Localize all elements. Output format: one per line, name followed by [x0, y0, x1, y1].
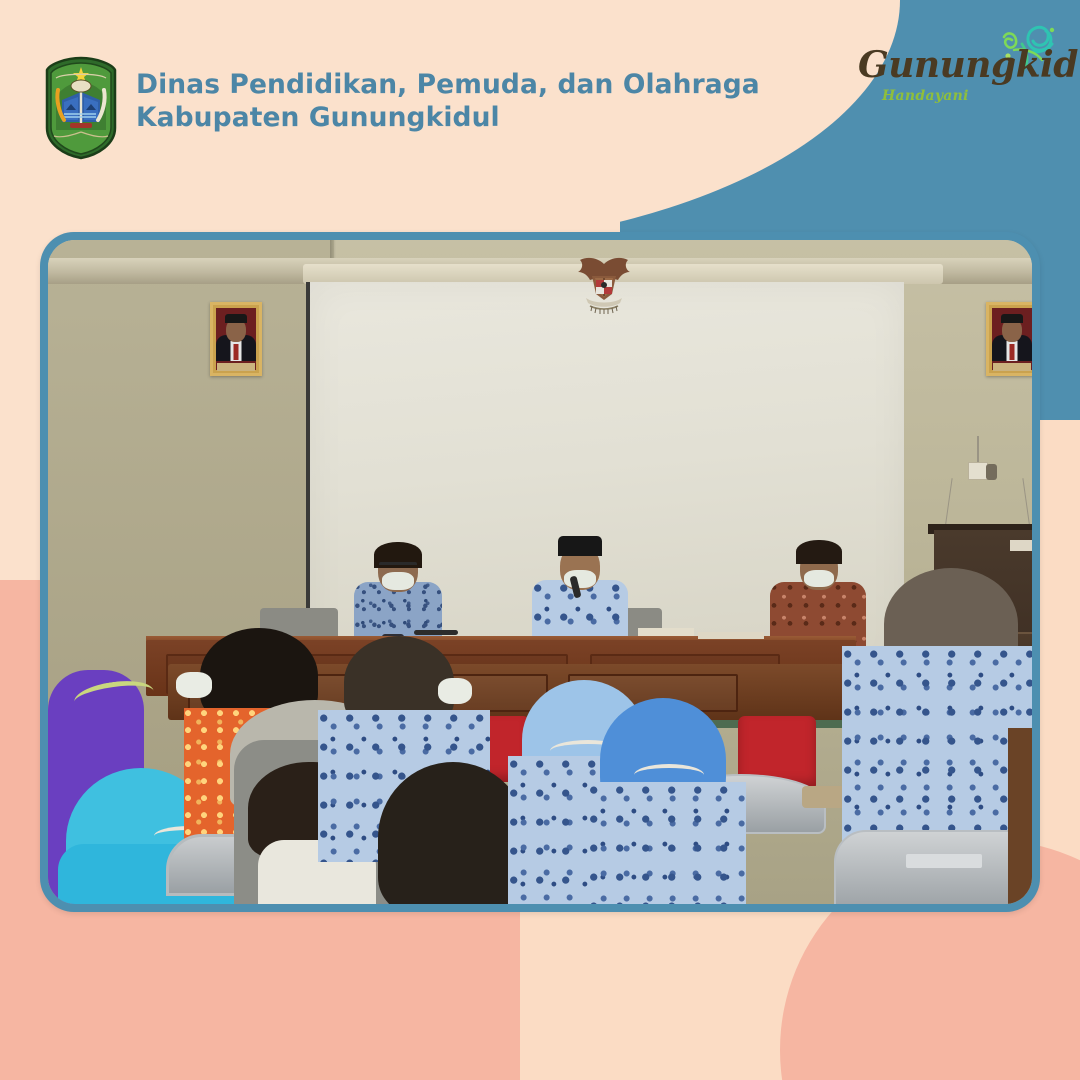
- audience-korpri-body-right: [842, 646, 1032, 860]
- papers-right: [698, 632, 764, 639]
- mask-korpri-left: [438, 678, 472, 704]
- brand-wordmark: Gunungkidul: [858, 44, 1038, 86]
- wakil-presiden-portrait: [986, 302, 1032, 376]
- gunungkidul-crest-icon: [42, 56, 120, 160]
- poster-canvas: Dinas Pendidikan, Pemuda, dan Olahraga K…: [0, 0, 1080, 1080]
- audience-korpri-body-hijab2: [588, 782, 746, 904]
- mask-strap-hijab2: [634, 764, 704, 786]
- speaker-center: [528, 536, 632, 652]
- meeting-photograph: [48, 240, 1032, 904]
- microphone-stand: [414, 630, 458, 635]
- wall-plug: [986, 464, 997, 480]
- title-line-1: Dinas Pendidikan, Pemuda, dan Olahraga: [136, 68, 760, 101]
- gunungkidul-brand-logo: Gunungkidul Handayani: [858, 38, 1058, 116]
- door-frame-right: [1008, 728, 1032, 904]
- mask-left-man: [176, 672, 212, 698]
- garuda-pancasila-emblem-icon: [568, 254, 640, 314]
- papers-center: [638, 628, 694, 636]
- chair-writing-pad: [802, 786, 846, 808]
- title-line-2: Kabupaten Gunungkidul: [136, 101, 760, 134]
- chair-plate-right: [906, 854, 982, 868]
- audience-dark-hair-front: [378, 762, 528, 904]
- cabinet-label: [1010, 540, 1032, 551]
- poster-header: Dinas Pendidikan, Pemuda, dan Olahraga K…: [0, 0, 1080, 200]
- presiden-portrait: [210, 302, 262, 376]
- wall-wire: [977, 436, 979, 464]
- photo-card: [40, 232, 1040, 912]
- poster-footer: @dikpora_gk pendidikan.gunungkidulkab.go…: [0, 930, 1080, 1080]
- page-title: Dinas Pendidikan, Pemuda, dan Olahraga K…: [136, 68, 760, 134]
- wall-socket: [968, 462, 988, 480]
- brand-tagline: Handayani: [882, 88, 969, 104]
